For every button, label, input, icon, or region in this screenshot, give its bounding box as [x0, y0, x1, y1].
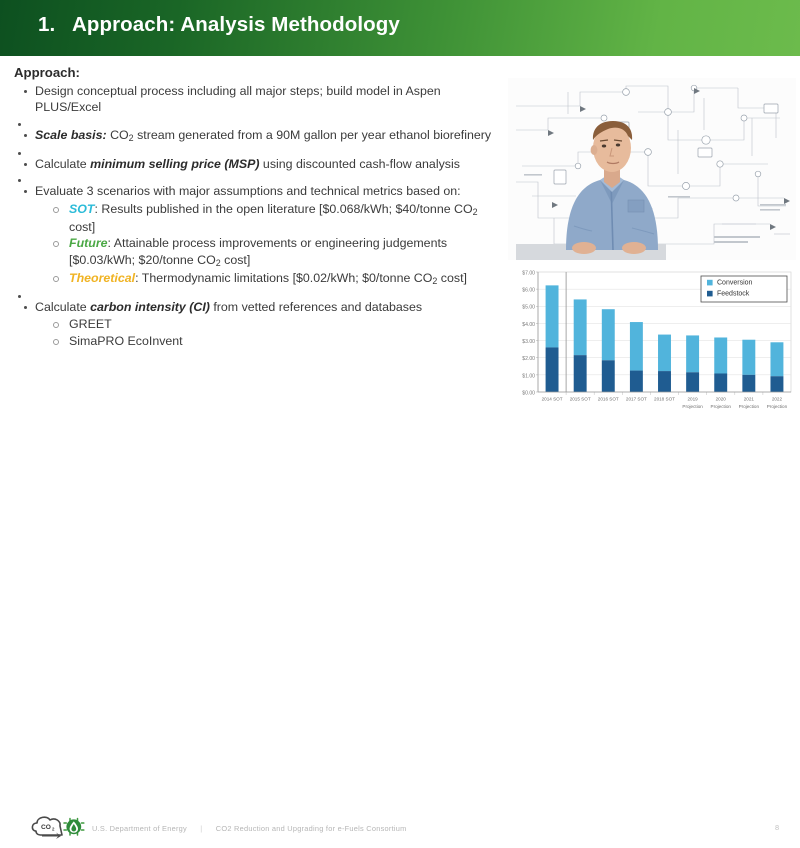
sub-bullet-list: SOT: Results published in the open liter… — [35, 201, 506, 288]
legend-label: Feedstock — [717, 291, 750, 298]
bar-segment-feedstock — [742, 375, 755, 392]
scenario-label: Future — [69, 236, 108, 250]
footer-caption: U.S. Department of Energy | CO2 Reductio… — [92, 824, 407, 833]
sub-bullet-db-greet: GREET — [47, 316, 506, 333]
bullet-calculate-msp: Calculate minimum selling price (MSP) us… — [20, 156, 506, 173]
svg-text:CO: CO — [41, 824, 51, 831]
chart-canvas: $0.00$1.00$2.00$3.00$4.00$5.00$6.00$7.00… — [505, 266, 797, 426]
page-title: 1. Approach: Analysis Methodology — [38, 13, 400, 37]
bullet-design-model: Design conceptual process including all … — [20, 83, 506, 116]
bullet-text: Calculate minimum selling price (MSP) us… — [35, 157, 460, 171]
bar-segment-conversion — [742, 340, 755, 375]
legend-swatch — [707, 280, 713, 286]
x-tick-label: 2016 SOT — [598, 397, 619, 402]
bar-segment-feedstock — [630, 371, 643, 392]
slide: 1. Approach: Analysis Methodology Approa… — [0, 0, 800, 450]
bullet-text: Evaluate 3 scenarios with major assumpti… — [35, 184, 461, 198]
bullet-list: Design conceptual process including all … — [14, 83, 506, 350]
sub-bullet-text: : Attainable process improvements or eng… — [69, 236, 447, 267]
bar-segment-conversion — [602, 309, 615, 360]
bar-segment-conversion — [686, 335, 699, 372]
legend-label: Conversion — [717, 280, 753, 287]
bar-segment-feedstock — [574, 355, 587, 392]
y-tick-label: $6.00 — [522, 288, 535, 294]
photo-graphic — [508, 78, 796, 260]
logo-graphic: CO 2 — [28, 813, 88, 843]
x-tick-label: 2018 SOT — [654, 397, 675, 402]
title-text: Approach: Analysis Methodology — [72, 13, 400, 36]
legend-swatch — [707, 291, 713, 297]
x-tick-label: 2014 SOT — [542, 397, 563, 402]
y-tick-label: $2.00 — [522, 356, 535, 362]
y-tick-label: $1.00 — [522, 373, 535, 379]
x-tick-label: 2022 — [772, 397, 783, 402]
slide-footer: CO 2 U.S. Department of Energy | CO2 Red… — [0, 404, 800, 450]
bullet-text: Scale basis: CO2 stream generated from a… — [35, 128, 491, 142]
svg-text:2: 2 — [52, 827, 55, 832]
slide-number: 8 — [775, 823, 779, 832]
bullet-spacer — [14, 116, 506, 127]
bullet-text: Calculate carbon intensity (CI) from vet… — [35, 300, 422, 314]
researcher-photo — [508, 78, 796, 260]
bar-segment-feedstock — [714, 373, 727, 392]
bullet-scale-basis: Scale basis: CO2 stream generated from a… — [20, 127, 506, 145]
footer-separator: | — [189, 824, 213, 833]
sub-bullet-text: : Thermodynamic limitations [$0.02/kWh; … — [135, 271, 467, 285]
bullet-spacer — [14, 288, 506, 299]
sub-bullet-scenario-future: Future: Attainable process improvements … — [47, 235, 506, 270]
y-tick-label: $5.00 — [522, 305, 535, 311]
co2-consortium-logo: CO 2 — [28, 813, 88, 843]
x-tick-label: 2020 — [716, 397, 727, 402]
sub-bullet-scenario-sot: SOT: Results published in the open liter… — [47, 201, 506, 236]
bullet-spacer — [14, 172, 506, 183]
scenario-label: SOT — [69, 202, 94, 216]
bullet-spacer — [14, 145, 506, 156]
y-tick-label: $7.00 — [522, 270, 535, 276]
msp-stacked-bar-chart: $0.00$1.00$2.00$3.00$4.00$5.00$6.00$7.00… — [505, 266, 797, 426]
sub-bullet-scenario-theoretical: Theoretical: Thermodynamic limitations [… — [47, 270, 506, 288]
header-divider — [0, 56, 800, 58]
bar-segment-feedstock — [658, 371, 671, 392]
bar-segment-feedstock — [546, 347, 559, 392]
sub-bullet-text: GREET — [69, 317, 112, 331]
bar-segment-feedstock — [770, 376, 783, 392]
bar-segment-conversion — [546, 285, 559, 347]
y-tick-label: $0.00 — [522, 390, 535, 396]
sub-bullet-db-simapro: SimaPRO EcoInvent — [47, 333, 506, 350]
bar-segment-feedstock — [686, 372, 699, 392]
sub-bullet-list: GREETSimaPRO EcoInvent — [35, 316, 506, 349]
sub-bullet-text: : Results published in the open literatu… — [69, 202, 478, 234]
footer-consortium: CO2 Reduction and Upgrading for e-Fuels … — [216, 824, 407, 833]
bar-segment-conversion — [658, 335, 671, 372]
content-body: Approach: Design conceptual process incl… — [14, 64, 506, 349]
bullet-evaluate-scenarios: Evaluate 3 scenarios with major assumpti… — [20, 183, 506, 288]
x-tick-label: 2017 SOT — [626, 397, 647, 402]
x-tick-label: 2021 — [744, 397, 755, 402]
footer-org: U.S. Department of Energy — [92, 824, 187, 833]
chart-legend: ConversionFeedstock — [701, 276, 787, 302]
x-tick-label: 2019 — [687, 397, 698, 402]
bullet-calculate-ci: Calculate carbon intensity (CI) from vet… — [20, 299, 506, 350]
bar-segment-feedstock — [602, 360, 615, 392]
bar-segment-conversion — [630, 322, 643, 371]
y-tick-label: $3.00 — [522, 339, 535, 345]
bar-segment-conversion — [574, 299, 587, 355]
y-tick-label: $4.00 — [522, 322, 535, 328]
approach-heading: Approach: — [14, 64, 506, 82]
x-tick-label: 2015 SOT — [570, 397, 591, 402]
bullet-text: Design conceptual process including all … — [35, 84, 441, 115]
bar-segment-conversion — [714, 337, 727, 373]
sub-bullet-text: SimaPRO EcoInvent — [69, 334, 183, 348]
title-number: 1. — [38, 13, 55, 36]
slide-header: 1. Approach: Analysis Methodology — [0, 0, 800, 56]
scenario-label: Theoretical — [69, 271, 135, 285]
bar-segment-conversion — [770, 342, 783, 376]
